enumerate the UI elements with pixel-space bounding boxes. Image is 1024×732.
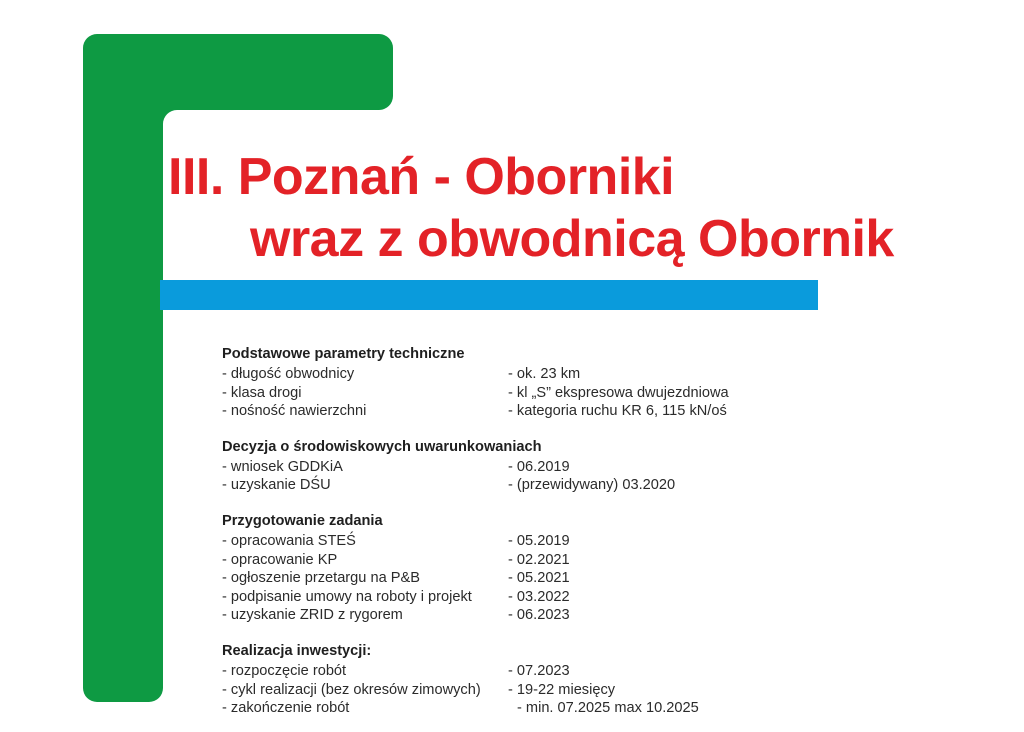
blue-accent-bar [160, 280, 818, 310]
spec-value: - ok. 23 km [508, 365, 580, 384]
spec-label: - opracowanie KP [222, 551, 508, 570]
spec-label: - uzyskanie ZRID z rygorem [222, 606, 508, 625]
spec-value: - kategoria ruchu KR 6, 115 kN/oś [508, 402, 727, 421]
page-title-line-2: wraz z obwodnicą Obornik [0, 208, 1024, 270]
spec-value: - 06.2023 [508, 606, 570, 625]
spec-value: - 06.2019 [508, 458, 570, 477]
spec-label: - klasa drogi [222, 384, 508, 403]
spec-row: - nośność nawierzchni - kategoria ruchu … [222, 402, 982, 421]
spec-row: - długość obwodnicy - ok. 23 km [222, 365, 982, 384]
spec-value: - 19-22 miesięcy [508, 681, 615, 700]
spec-row: - opracowanie KP - 02.2021 [222, 551, 982, 570]
spec-row: - rozpoczęcie robót - 07.2023 [222, 662, 982, 681]
spec-value: - 02.2021 [508, 551, 570, 570]
spec-row: - ogłoszenie przetargu na P&B - 05.2021 [222, 569, 982, 588]
section-heading: Podstawowe parametry techniczne [222, 345, 982, 364]
spec-row: - uzyskanie DŚU - (przewidywany) 03.2020 [222, 476, 982, 495]
spec-value: - kl „S” ekspresowa dwujezdniowa [508, 384, 729, 403]
spec-label: - opracowania STEŚ [222, 532, 508, 551]
spec-label: - podpisanie umowy na roboty i projekt [222, 588, 508, 607]
spec-value: - 03.2022 [508, 588, 570, 607]
spec-value: - 07.2023 [508, 662, 570, 681]
spec-label: - długość obwodnicy [222, 365, 508, 384]
section-przygotowanie-zadania: Przygotowanie zadania - opracowania STEŚ… [222, 512, 982, 625]
spec-row: - zakończenie robót - min. 07.2025 max 1… [222, 699, 982, 718]
spec-label: - wniosek GDDKiA [222, 458, 508, 477]
slide-canvas: III. Poznań - Oborniki wraz z obwodnicą … [0, 0, 1024, 732]
spec-value: - 05.2019 [508, 532, 570, 551]
section-heading: Realizacja inwestycji: [222, 642, 982, 661]
spec-row: - cykl realizacji (bez okresów zimowych)… [222, 681, 982, 700]
spec-row: - opracowania STEŚ - 05.2019 [222, 532, 982, 551]
spec-value: - min. 07.2025 max 10.2025 [508, 699, 699, 718]
spec-label: - rozpoczęcie robót [222, 662, 508, 681]
spec-row: - wniosek GDDKiA - 06.2019 [222, 458, 982, 477]
section-heading: Przygotowanie zadania [222, 512, 982, 531]
section-heading: Decyzja o środowiskowych uwarunkowaniach [222, 438, 982, 457]
page-title-line-1: III. Poznań - Oborniki [0, 146, 1024, 208]
spec-row: - klasa drogi - kl „S” ekspresowa dwujez… [222, 384, 982, 403]
section-decyzja-srodowiskowa: Decyzja o środowiskowych uwarunkowaniach… [222, 438, 982, 495]
spec-label: - ogłoszenie przetargu na P&B [222, 569, 508, 588]
section-parametry-techniczne: Podstawowe parametry techniczne - długoś… [222, 345, 982, 421]
section-realizacja-inwestycji: Realizacja inwestycji: - rozpoczęcie rob… [222, 642, 982, 718]
spec-value: - 05.2021 [508, 569, 570, 588]
spec-label: - uzyskanie DŚU [222, 476, 508, 495]
spec-row: - uzyskanie ZRID z rygorem - 06.2023 [222, 606, 982, 625]
spec-row: - podpisanie umowy na roboty i projekt -… [222, 588, 982, 607]
spec-label: - nośność nawierzchni [222, 402, 508, 421]
spec-value: - (przewidywany) 03.2020 [508, 476, 675, 495]
content-body: Podstawowe parametry techniczne - długoś… [222, 345, 982, 718]
spec-label: - cykl realizacji (bez okresów zimowych) [222, 681, 508, 700]
spec-label: - zakończenie robót [222, 699, 508, 718]
page-title: III. Poznań - Oborniki wraz z obwodnicą … [0, 146, 1024, 270]
